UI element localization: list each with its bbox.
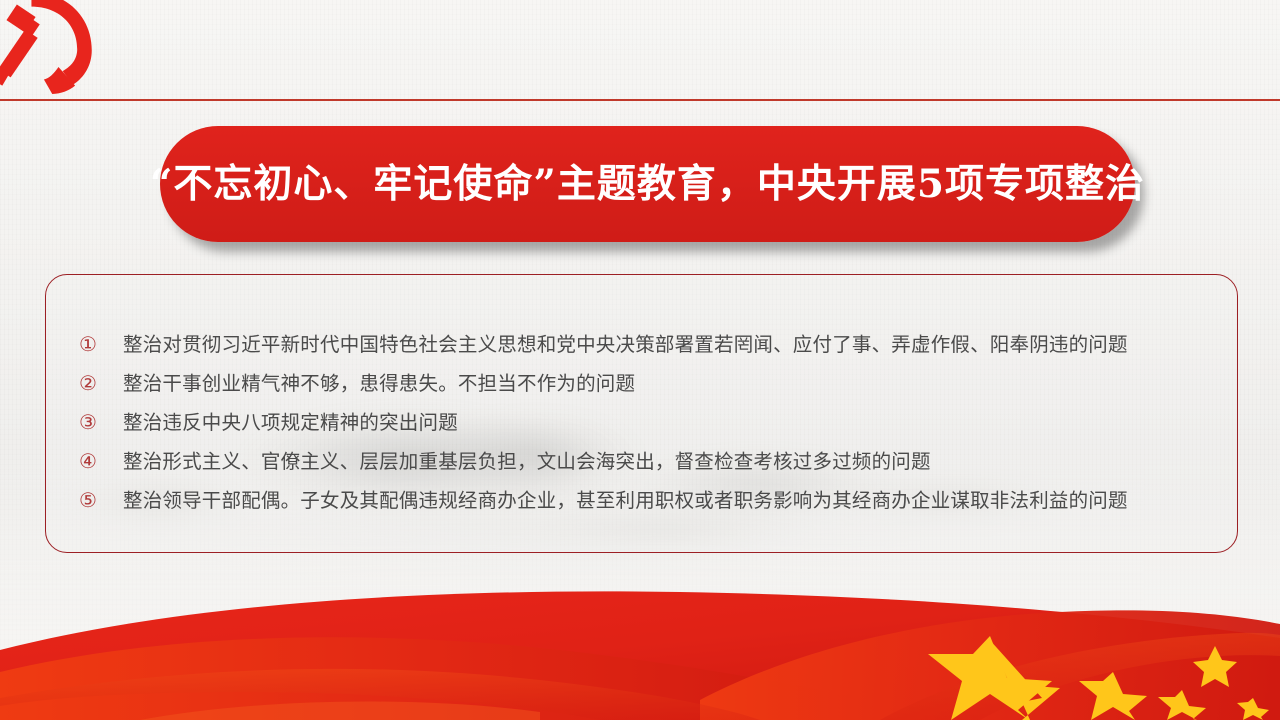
red-flag-ribbon bbox=[0, 580, 1280, 720]
list-item-text: 整治对贯彻习近平新时代中国特色社会主义思想和党中央决策部署置若罔闻、应付了事、弄… bbox=[123, 329, 1219, 361]
points-list: ① 整治对贯彻习近平新时代中国特色社会主义思想和党中央决策部署置若罔闻、应付了事… bbox=[79, 328, 1219, 523]
list-item: ④ 整治形式主义、官僚主义、层层加重基层负担，文山会海突出，督查检查考核过多过频… bbox=[79, 445, 1219, 478]
list-item: ① 整治对贯彻习近平新时代中国特色社会主义思想和党中央决策部署置若罔闻、应付了事… bbox=[79, 328, 1219, 361]
list-item-marker: ④ bbox=[79, 445, 123, 477]
list-item-text: 整治形式主义、官僚主义、层层加重基层负担，文山会海突出，督查检查考核过多过频的问… bbox=[123, 446, 1219, 478]
list-item-text: 整治违反中央八项规定精神的突出问题 bbox=[123, 407, 1219, 439]
slide-root: “不忘初心、牢记使命”主题教育，中央开展5项专项整治 ① 整治对贯彻习近平新时代… bbox=[0, 0, 1280, 720]
list-item: ③ 整治违反中央八项规定精神的突出问题 bbox=[79, 406, 1219, 439]
page-title: “不忘初心、牢记使命”主题教育，中央开展5项专项整治 bbox=[150, 165, 1145, 204]
hammer-and-sickle-icon bbox=[0, 0, 98, 94]
list-item-marker: ② bbox=[79, 367, 123, 399]
list-item-marker: ⑤ bbox=[79, 484, 123, 516]
content-panel: ① 整治对贯彻习近平新时代中国特色社会主义思想和党中央决策部署置若罔闻、应付了事… bbox=[45, 274, 1238, 553]
list-item-marker: ③ bbox=[79, 406, 123, 438]
title-banner: “不忘初心、牢记使命”主题教育，中央开展5项专项整治 bbox=[160, 126, 1135, 242]
list-item: ⑤ 整治领导干部配偶。子女及其配偶违规经商办企业，甚至利用职权或者职务影响为其经… bbox=[79, 484, 1219, 517]
list-item: ② 整治干事创业精气神不够，患得患失。不担当不作为的问题 bbox=[79, 367, 1219, 400]
list-item-marker: ① bbox=[79, 328, 123, 360]
header-divider bbox=[0, 99, 1280, 101]
list-item-text: 整治领导干部配偶。子女及其配偶违规经商办企业，甚至利用职权或者职务影响为其经商办… bbox=[123, 485, 1219, 517]
list-item-text: 整治干事创业精气神不够，患得患失。不担当不作为的问题 bbox=[123, 368, 1219, 400]
